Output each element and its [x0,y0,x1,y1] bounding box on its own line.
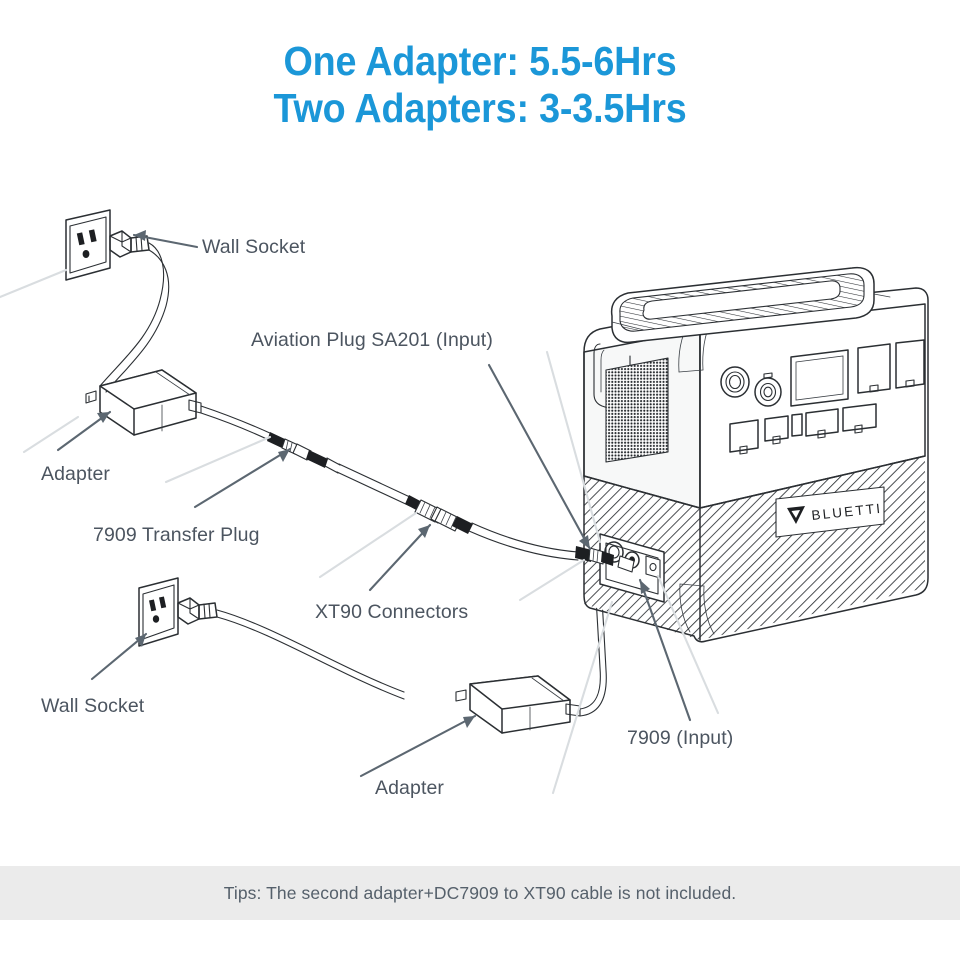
power-adapter-brick-icon-top [86,370,201,435]
headline-two-adapters: Two Adapters: 3-3.5Hrs [38,85,921,132]
leader-7909-input [640,576,718,720]
bluetti-logo: BLUETTI [776,487,884,537]
label-transfer-plug: 7909 Transfer Plug [93,524,260,547]
label-xt90-connectors: XT90 Connectors [315,601,468,624]
xt90-connector-icon [405,495,473,534]
label-7909-input: 7909 (Input) [627,727,733,750]
power-adapter-brick-icon-bottom [456,676,580,733]
headline-one-adapter: One Adapter: 5.5-6Hrs [38,38,921,85]
wall-outlet-icon-bottom [139,578,217,646]
dc7909-transfer-plug-icon [267,432,340,473]
headline-block: One Adapter: 5.5-6Hrs Two Adapters: 3-3.… [0,38,960,132]
label-adapter-bottom: Adapter [375,777,444,800]
leader-transfer-plug [166,437,290,507]
wall-outlet-icon-top [66,210,149,280]
label-aviation-plug: Aviation Plug SA201 (Input) [251,329,493,352]
label-wall-socket-top: Wall Socket [202,236,305,259]
leader-adapter-top [24,412,110,452]
leader-adapter-bottom [361,716,475,776]
label-wall-socket-bottom: Wall Socket [41,695,144,718]
label-adapter-top: Adapter [41,463,110,486]
diagram-artwork: BLUETTI [0,0,960,960]
leader-aviation-plug [489,352,600,549]
leader-xt90 [320,513,430,590]
leader-wall-socket-top [0,230,197,297]
diagram-canvas: One Adapter: 5.5-6Hrs Two Adapters: 3-3.… [0,0,960,960]
portable-power-station-icon: BLUETTI [575,268,928,642]
tips-text: Tips: The second adapter+DC7909 to XT90 … [224,883,737,904]
leader-wall-socket-bottom [92,634,146,679]
svg-text:BLUETTI: BLUETTI [811,501,883,523]
tips-banner: Tips: The second adapter+DC7909 to XT90 … [0,866,960,920]
